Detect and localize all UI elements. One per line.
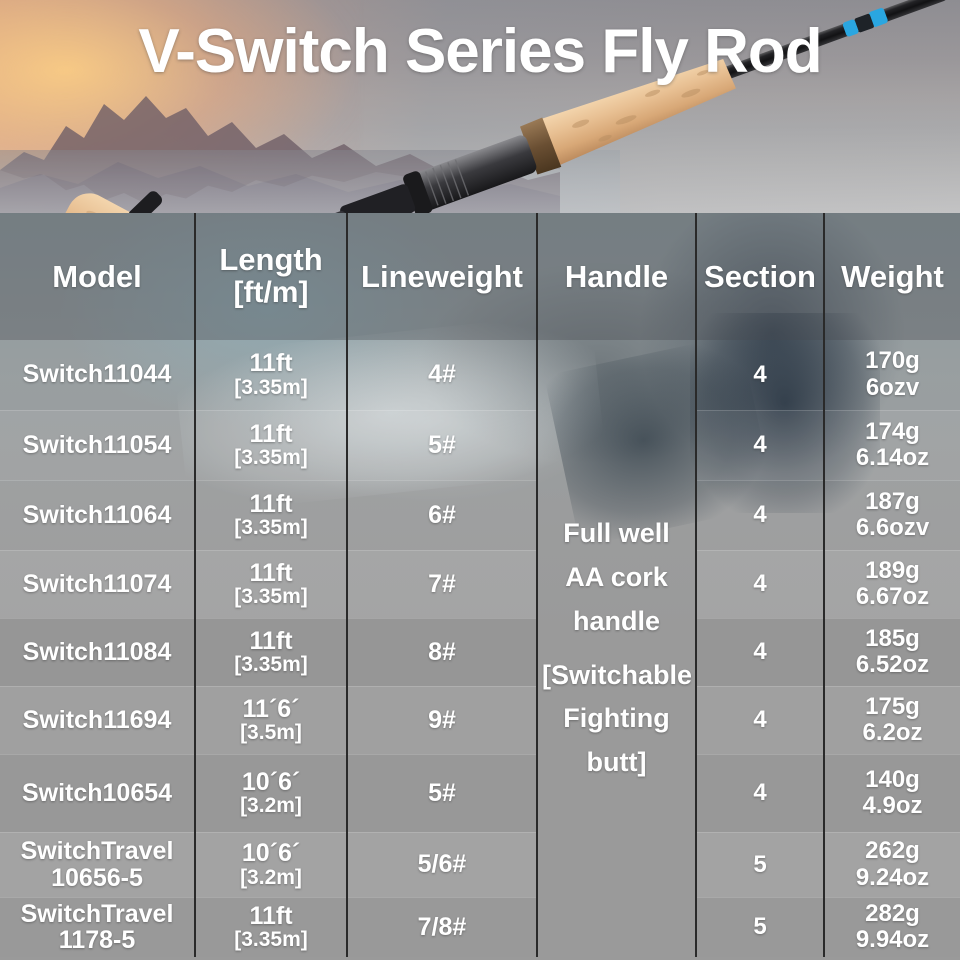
table-row[interactable]: Switch11694 11´6´ [3.5m] 9# 4 175g 6.2oz [0,686,960,754]
cell-weight: 175g 6.2oz [824,686,960,754]
weight-grams: 170g [829,348,956,374]
cell-lineweight: 7/8# [347,897,537,957]
product-spec-page: V-Switch Series Fly Rod Model Length [0,0,960,960]
header-label-lineweight: Lineweight [361,259,523,294]
cell-section: 4 [696,618,824,686]
model-line-2: 1178-5 [4,927,190,953]
cell-section: 4 [696,550,824,618]
handle-line-2: AA cork [542,556,691,600]
weight-ounces: 4.9oz [829,793,956,819]
column-header-length[interactable]: Length [ft/m] [195,213,347,340]
cell-lineweight: 5# [347,410,537,480]
table-row[interactable]: Switch11084 11ft [3.35m] 8# 4 185g 6.52o… [0,618,960,686]
page-title: V-Switch Series Fly Rod [0,16,960,87]
cell-length: 11ft [3.35m] [195,340,347,410]
weight-ounces: 6.52oz [829,652,956,678]
cell-weight: 262g 9.24oz [824,832,960,897]
cell-section: 4 [696,410,824,480]
cell-model: Switch11064 [0,480,195,550]
cell-length: 11ft [3.35m] [195,897,347,957]
weight-grams: 262g [829,838,956,864]
weight-grams: 185g [829,626,956,652]
cell-lineweight: 6# [347,480,537,550]
cell-section: 4 [696,340,824,410]
length-ft: 11ft [200,904,342,930]
weight-ounces: 6ozv [829,375,956,401]
table-row[interactable]: Switch11074 11ft [3.35m] 7# 4 189g 6.67o… [0,550,960,618]
length-ft: 11´6´ [200,697,342,723]
cell-section: 5 [696,832,824,897]
weight-grams: 282g [829,901,956,927]
length-m: [3.35m] [200,517,342,538]
cell-handle: Full well AA cork handle [Switchable Fig… [537,340,696,957]
length-ft: 11ft [200,422,342,448]
cell-length: 11´6´ [3.5m] [195,686,347,754]
cell-model: Switch11044 [0,340,195,410]
column-header-model[interactable]: Model [0,213,195,340]
weight-ounces: 9.94oz [829,927,956,953]
cell-weight: 187g 6.6ozv [824,480,960,550]
cell-section: 4 [696,686,824,754]
hero-banner: V-Switch Series Fly Rod [0,0,960,213]
handle-line-3: handle [542,600,691,644]
length-m: [3.35m] [200,377,342,398]
weight-grams: 175g [829,694,956,720]
specification-table: Model Length [ft/m] Lineweight Handle Se… [0,213,960,957]
length-ft: 11ft [200,351,342,377]
weight-grams: 189g [829,558,956,584]
cell-weight: 185g 6.52oz [824,618,960,686]
table-row[interactable]: SwitchTravel 1178-5 11ft [3.35m] 7/8# 5 … [0,897,960,957]
cell-lineweight: 5/6# [347,832,537,897]
weight-ounces: 6.2oz [829,720,956,746]
cell-model: Switch11084 [0,618,195,686]
header-label-length: Length [219,242,322,277]
length-ft: 10´6´ [200,841,342,867]
cell-lineweight: 4# [347,340,537,410]
table-row[interactable]: SwitchTravel 10656-5 10´6´ [3.2m] 5/6# 5… [0,832,960,897]
handle-spacer [542,644,691,654]
table-row[interactable]: Switch11044 11ft [3.35m] 4# Full well AA… [0,340,960,410]
weight-grams: 140g [829,767,956,793]
cell-lineweight: 9# [347,686,537,754]
model-line-2: 10656-5 [4,865,190,891]
cell-model: Switch11054 [0,410,195,480]
header-sub-length-units: [ft/m] [200,277,342,309]
column-header-handle[interactable]: Handle [537,213,696,340]
cell-model: Switch10654 [0,754,195,832]
cell-lineweight: 8# [347,618,537,686]
handle-line-6: butt] [542,741,691,785]
length-m: [3.5m] [200,722,342,743]
header-label-section: Section [704,259,816,294]
table-row[interactable]: Switch11064 11ft [3.35m] 6# 4 187g 6.6oz… [0,480,960,550]
cell-weight: 189g 6.67oz [824,550,960,618]
handle-line-4: [Switchable [542,654,691,698]
header-label-model: Model [52,259,142,294]
length-ft: 10´6´ [200,770,342,796]
table-body: Switch11044 11ft [3.35m] 4# Full well AA… [0,340,960,957]
cell-section: 4 [696,480,824,550]
weight-grams: 187g [829,489,956,515]
length-ft: 11ft [200,561,342,587]
length-m: [3.35m] [200,447,342,468]
cell-lineweight: 7# [347,550,537,618]
table-header: Model Length [ft/m] Lineweight Handle Se… [0,213,960,340]
cell-model: Switch11694 [0,686,195,754]
cell-lineweight: 5# [347,754,537,832]
cell-section: 5 [696,897,824,957]
header-row: Model Length [ft/m] Lineweight Handle Se… [0,213,960,340]
cell-weight: 170g 6ozv [824,340,960,410]
length-m: [3.2m] [200,867,342,888]
length-m: [3.35m] [200,929,342,950]
length-m: [3.35m] [200,586,342,607]
weight-grams: 174g [829,419,956,445]
column-header-weight[interactable]: Weight [824,213,960,340]
header-label-handle: Handle [565,259,668,294]
length-ft: 11ft [200,492,342,518]
handle-line-5: Fighting [542,697,691,741]
table-row[interactable]: Switch11054 11ft [3.35m] 5# 4 174g 6.14o… [0,410,960,480]
column-header-lineweight[interactable]: Lineweight [347,213,537,340]
cell-length: 11ft [3.35m] [195,410,347,480]
model-line-1: SwitchTravel [4,901,190,927]
spec-table-region: Model Length [ft/m] Lineweight Handle Se… [0,213,960,960]
cell-model: Switch11074 [0,550,195,618]
weight-ounces: 9.24oz [829,865,956,891]
cell-length: 10´6´ [3.2m] [195,754,347,832]
weight-ounces: 6.14oz [829,445,956,471]
cell-model: SwitchTravel 10656-5 [0,832,195,897]
weight-ounces: 6.6ozv [829,515,956,541]
cell-weight: 282g 9.94oz [824,897,960,957]
cell-length: 11ft [3.35m] [195,480,347,550]
cell-section: 4 [696,754,824,832]
cell-length: 11ft [3.35m] [195,618,347,686]
weight-ounces: 6.67oz [829,584,956,610]
column-header-section[interactable]: Section [696,213,824,340]
length-ft: 11ft [200,629,342,655]
handle-line-1: Full well [542,512,691,556]
cell-model: SwitchTravel 1178-5 [0,897,195,957]
model-line-1: SwitchTravel [4,838,190,864]
table-row[interactable]: Switch10654 10´6´ [3.2m] 5# 4 140g 4.9oz [0,754,960,832]
cell-weight: 140g 4.9oz [824,754,960,832]
length-m: [3.2m] [200,795,342,816]
cell-length: 11ft [3.35m] [195,550,347,618]
header-label-weight: Weight [841,259,944,294]
length-m: [3.35m] [200,654,342,675]
cell-length: 10´6´ [3.2m] [195,832,347,897]
cell-weight: 174g 6.14oz [824,410,960,480]
